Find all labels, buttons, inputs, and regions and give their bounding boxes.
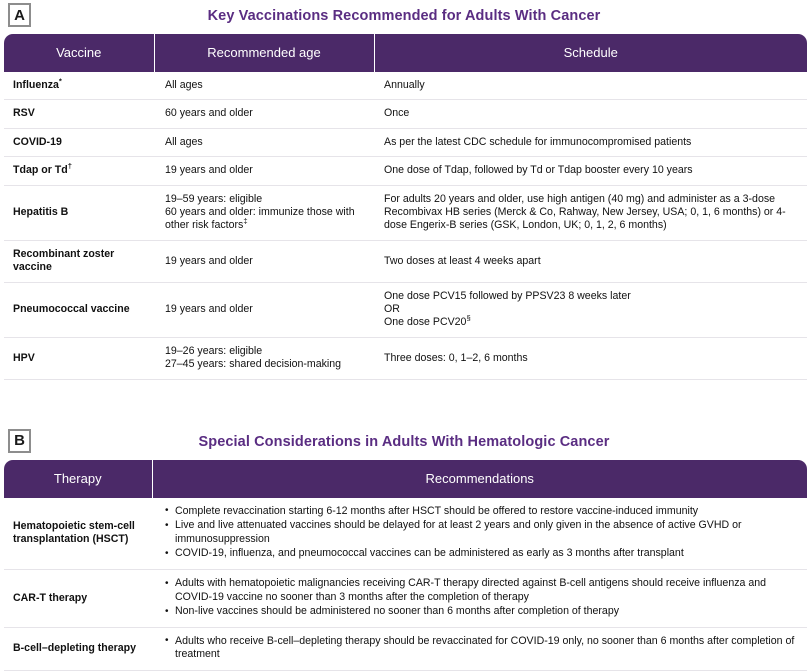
- list-item: Non-live vaccines should be administered…: [165, 605, 799, 619]
- table-row: RSV 60 years and older Once: [4, 100, 807, 128]
- table-row: Hepatitis B 19–59 years: eligible 60 yea…: [4, 185, 807, 240]
- age-line-2: 27–45 years: shared decision-making: [165, 358, 341, 370]
- cell-therapy: Hematopoietic stem-cell transplantation …: [4, 498, 152, 570]
- cell-schedule: Two doses at least 4 weeks apart: [374, 240, 807, 282]
- list-item: Adults with hematopoietic malignancies r…: [165, 577, 799, 604]
- list-item: Complete revaccination starting 6-12 mon…: [165, 505, 799, 519]
- cell-schedule: As per the latest CDC schedule for immun…: [374, 128, 807, 156]
- cell-recommended-age: 19 years and older: [154, 282, 374, 337]
- cell-vaccine: Hepatitis B: [4, 185, 154, 240]
- panel-b-header: B Special Considerations in Adults With …: [0, 426, 808, 460]
- vaccinations-table-body: Influenza* All ages Annually RSV 60 year…: [4, 72, 807, 379]
- cell-vaccine: RSV: [4, 100, 154, 128]
- cell-vaccine: Pneumococcal vaccine: [4, 282, 154, 337]
- schedule-line-1: One dose PCV15 followed by PPSV23 8 week…: [384, 290, 631, 302]
- vaccine-line-2: vaccine: [13, 261, 52, 273]
- cell-recommendations: Complete revaccination starting 6-12 mon…: [152, 498, 807, 570]
- panel-gap: [0, 380, 808, 426]
- table-row: CAR-T therapy Adults with hematopoietic …: [4, 570, 807, 628]
- cell-schedule: Three doses: 0, 1–2, 6 months: [374, 337, 807, 379]
- therapy-line-2: transplantation (HSCT): [13, 533, 128, 545]
- table-header-row: Vaccine Recommended age Schedule: [4, 34, 807, 72]
- table-row: Influenza* All ages Annually: [4, 72, 807, 100]
- panel-a-letter-badge: A: [8, 3, 31, 27]
- special-considerations-table: Therapy Recommendations Hematopoietic st…: [4, 460, 807, 671]
- list-item: Live and live attenuated vaccines should…: [165, 519, 799, 546]
- cell-vaccine: COVID-19: [4, 128, 154, 156]
- panel-b: B Special Considerations in Adults With …: [0, 426, 808, 671]
- recommendation-list: Complete revaccination starting 6-12 mon…: [152, 505, 799, 561]
- cell-vaccine: Influenza*: [4, 72, 154, 100]
- age-line-3: other risk factors: [165, 219, 243, 231]
- column-header-vaccine: Vaccine: [4, 34, 154, 72]
- table-row: Pneumococcal vaccine 19 years and older …: [4, 282, 807, 337]
- cell-recommended-age: All ages: [154, 72, 374, 100]
- column-header-recommended-age: Recommended age: [154, 34, 374, 72]
- cell-recommended-age: All ages: [154, 128, 374, 156]
- schedule-line-2: OR: [384, 303, 400, 315]
- cell-recommendations: Adults with hematopoietic malignancies r…: [152, 570, 807, 628]
- table-row: HPV 19–26 years: eligible 27–45 years: s…: [4, 337, 807, 379]
- panel-a-header: A Key Vaccinations Recommended for Adult…: [0, 0, 808, 34]
- cell-recommendations: Adults who receive B-cell–depleting ther…: [152, 627, 807, 670]
- column-header-schedule: Schedule: [374, 34, 807, 72]
- cell-therapy: B-cell–depleting therapy: [4, 627, 152, 670]
- panel-b-title: Special Considerations in Adults With He…: [0, 426, 808, 457]
- table-row: Tdap or Td† 19 years and older One dose …: [4, 157, 807, 185]
- cell-recommended-age: 19 years and older: [154, 240, 374, 282]
- table-row: Hematopoietic stem-cell transplantation …: [4, 498, 807, 570]
- list-item: Adults who receive B-cell–depleting ther…: [165, 635, 799, 662]
- panel-b-letter-badge: B: [8, 429, 31, 453]
- cell-vaccine: Tdap or Td†: [4, 157, 154, 185]
- vaccine-name: Tdap or Td: [13, 164, 68, 176]
- cell-vaccine: HPV: [4, 337, 154, 379]
- vaccine-name: Influenza: [13, 79, 59, 91]
- table-row: Recombinant zoster vaccine 19 years and …: [4, 240, 807, 282]
- column-header-therapy: Therapy: [4, 460, 152, 498]
- panel-a: A Key Vaccinations Recommended for Adult…: [0, 0, 808, 380]
- cell-schedule: Annually: [374, 72, 807, 100]
- footnote-marker: *: [59, 76, 62, 85]
- therapy-line-1: Hematopoietic stem-cell: [13, 520, 135, 532]
- vaccine-line-1: Recombinant zoster: [13, 248, 114, 260]
- panel-a-title: Key Vaccinations Recommended for Adults …: [0, 0, 808, 31]
- cell-therapy: CAR-T therapy: [4, 570, 152, 628]
- age-line-2: 60 years and older: immunize those with: [165, 206, 355, 218]
- table-header-row: Therapy Recommendations: [4, 460, 807, 498]
- special-considerations-table-body: Hematopoietic stem-cell transplantation …: [4, 498, 807, 671]
- vaccinations-table: Vaccine Recommended age Schedule Influen…: [4, 34, 807, 380]
- cell-schedule: One dose PCV15 followed by PPSV23 8 week…: [374, 282, 807, 337]
- age-line-1: 19–59 years: eligible: [165, 193, 262, 205]
- cell-recommended-age: 19 years and older: [154, 157, 374, 185]
- figure-root: A Key Vaccinations Recommended for Adult…: [0, 0, 808, 627]
- footnote-marker: ‡: [243, 217, 247, 226]
- recommendation-list: Adults with hematopoietic malignancies r…: [152, 577, 799, 619]
- cell-recommended-age: 19–26 years: eligible 27–45 years: share…: [154, 337, 374, 379]
- recommendation-list: Adults who receive B-cell–depleting ther…: [152, 635, 799, 662]
- schedule-line-3: One dose PCV20: [384, 316, 466, 328]
- footnote-marker: §: [466, 314, 470, 323]
- table-row: COVID-19 All ages As per the latest CDC …: [4, 128, 807, 156]
- cell-recommended-age: 19–59 years: eligible 60 years and older…: [154, 185, 374, 240]
- cell-recommended-age: 60 years and older: [154, 100, 374, 128]
- special-considerations-table-head: Therapy Recommendations: [4, 460, 807, 498]
- cell-schedule: One dose of Tdap, followed by Td or Tdap…: [374, 157, 807, 185]
- table-row: B-cell–depleting therapy Adults who rece…: [4, 627, 807, 670]
- vaccinations-table-head: Vaccine Recommended age Schedule: [4, 34, 807, 72]
- cell-schedule: For adults 20 years and older, use high …: [374, 185, 807, 240]
- column-header-recommendations: Recommendations: [152, 460, 807, 498]
- cell-schedule: Once: [374, 100, 807, 128]
- cell-vaccine: Recombinant zoster vaccine: [4, 240, 154, 282]
- age-line-1: 19–26 years: eligible: [165, 345, 262, 357]
- footnote-marker: †: [68, 162, 72, 171]
- list-item: COVID-19, influenza, and pneumococcal va…: [165, 547, 799, 561]
